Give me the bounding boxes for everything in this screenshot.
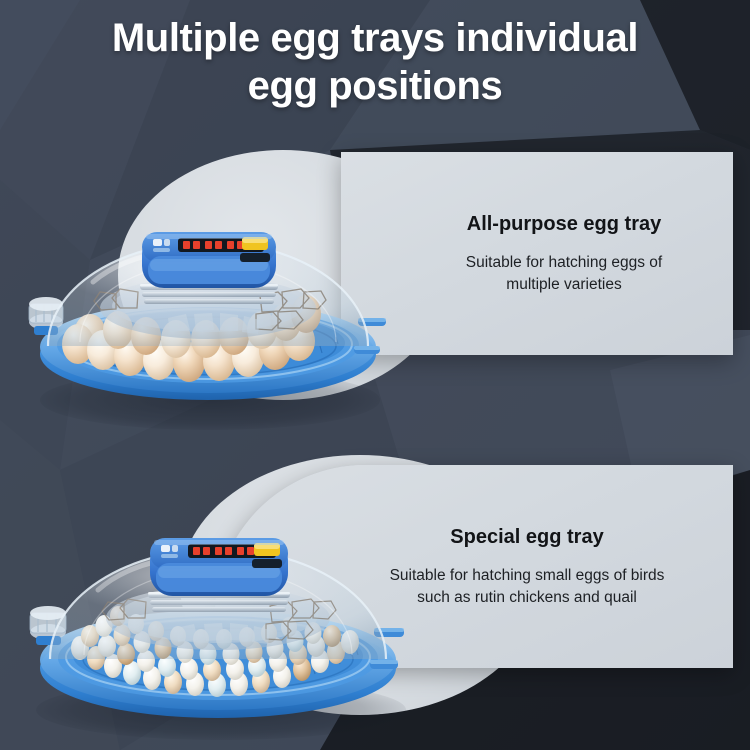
promo-image: Multiple egg trays individual egg positi… — [0, 0, 750, 750]
card-body-line-1: Suitable for hatching eggs of — [466, 252, 662, 274]
card-body-all-purpose: Suitable for hatching eggs of multiple v… — [466, 252, 662, 296]
info-card-all-purpose: All-purpose egg tray Suitable for hatchi… — [341, 152, 733, 355]
card-title-special: Special egg tray — [450, 525, 603, 549]
title-line-2: egg positions — [0, 62, 750, 110]
product-incubator-all-purpose — [18, 226, 398, 416]
title-line-1: Multiple egg trays individual — [0, 14, 750, 62]
page-title: Multiple egg trays individual egg positi… — [0, 14, 750, 110]
card-body-line-2: such as rutin chickens and quail — [390, 587, 665, 609]
card-body-line-2: multiple varieties — [466, 274, 662, 296]
card-title-all-purpose: All-purpose egg tray — [467, 212, 661, 236]
control-unit — [142, 232, 276, 288]
card-body-line-1: Suitable for hatching small eggs of bird… — [390, 565, 665, 587]
control-unit — [150, 538, 288, 596]
product-incubator-special — [18, 528, 418, 728]
card-body-special: Suitable for hatching small eggs of bird… — [390, 565, 665, 609]
